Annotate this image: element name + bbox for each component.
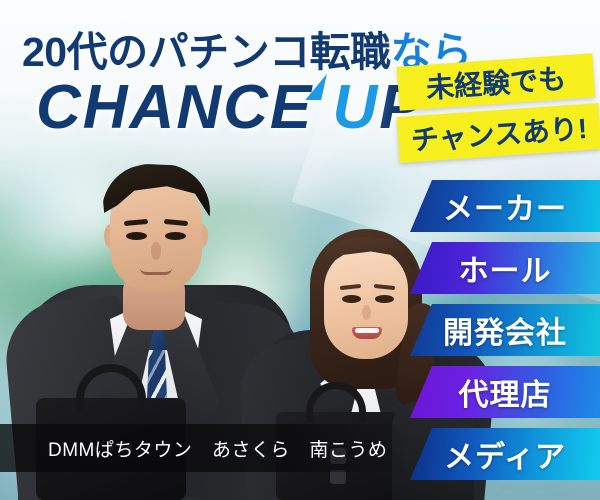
logo-letter-u: U <box>332 73 379 142</box>
female-eye-right <box>375 295 394 303</box>
category-label: メーカー <box>443 184 567 228</box>
category-band-maker[interactable]: メーカー <box>410 180 600 232</box>
category-label: 開発会社 <box>443 308 567 352</box>
category-band-list: メーカー ホール 開発会社 代理店 メディア <box>410 180 600 490</box>
category-band-media[interactable]: メディア <box>410 428 600 480</box>
category-band-development-company[interactable]: 開発会社 <box>410 304 600 356</box>
headline-main: 20代のパチンコ転職 <box>22 29 391 75</box>
female-teeth <box>355 328 379 333</box>
caption-bar: DMMぱちタウン あさくら 南こうめ <box>0 424 410 472</box>
category-label: メディア <box>444 432 566 476</box>
logo-chance-up: CHANCE UP <box>36 72 423 143</box>
badge-chance-available-label: チャンスあり! <box>410 107 589 159</box>
male-eye-right <box>165 232 186 240</box>
female-nose <box>362 305 371 320</box>
caption-text: DMMぱちタウン あさくら 南こうめ <box>48 435 387 462</box>
female-eye-left <box>342 295 361 303</box>
category-label: 代理店 <box>459 370 552 414</box>
female-face <box>324 247 408 359</box>
advertisement-banner[interactable]: 20代のパチンコ転職なら CHANCE UP 未経験でも チャンスあり! メーカ… <box>0 0 600 500</box>
briefcase-clasp-lower <box>330 470 346 484</box>
badge-no-experience-label: 未経験でも <box>425 57 567 107</box>
male-nose <box>151 242 161 260</box>
category-band-hall[interactable]: ホール <box>410 242 600 294</box>
category-label: ホール <box>459 246 552 290</box>
logo-word-chance: CHANCE <box>36 73 313 142</box>
male-mouth <box>140 268 172 275</box>
male-eye-left <box>126 232 147 240</box>
category-band-agency[interactable]: 代理店 <box>410 366 600 418</box>
